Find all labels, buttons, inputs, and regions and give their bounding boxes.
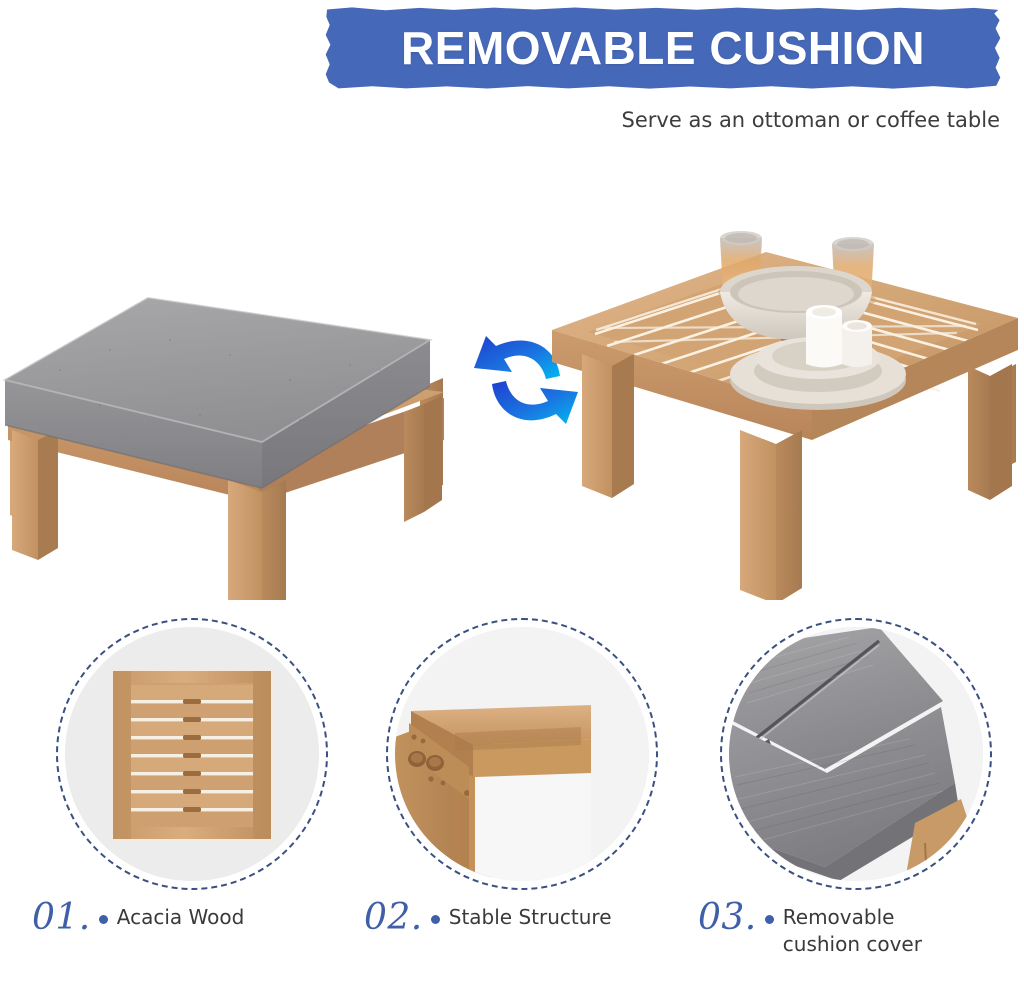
feature-label-3-line2: cushion cover <box>783 932 922 956</box>
feature-caption-2: 02. Stable Structure <box>352 898 692 938</box>
feature-label-2: Stable Structure <box>449 898 612 931</box>
header: REMOVABLE CUSHION Serve as an ottoman or… <box>0 0 1024 150</box>
bullet-dot-icon <box>99 915 108 924</box>
feature-item-1[interactable]: 01. Acacia Wood <box>22 610 362 983</box>
features-section: 01. Acacia Wood <box>0 610 1024 983</box>
feature-caption-1: 01. Acacia Wood <box>22 898 362 938</box>
feature-item-3[interactable]: 03. Removable cushion cover <box>686 610 1024 983</box>
subtitle: Serve as an ottoman or coffee table <box>622 108 1000 132</box>
feature-number-2: 02. <box>364 898 423 938</box>
feature-caption-3: 03. Removable cushion cover <box>686 898 1024 958</box>
coffee-table-illustration <box>552 231 1018 600</box>
feature-circle-3 <box>720 618 992 890</box>
bullet-dot-icon <box>431 915 440 924</box>
hero-section <box>0 140 1024 600</box>
feature-circle-border-2 <box>386 618 658 890</box>
feature-number-3: 03. <box>698 898 757 938</box>
title-banner: REMOVABLE CUSHION <box>325 7 1001 89</box>
feature-number-1: 01. <box>32 898 91 938</box>
feature-circle-border-3 <box>720 618 992 890</box>
feature-circle-border-1 <box>56 618 328 890</box>
feature-circle-1 <box>56 618 328 890</box>
feature-label-3-line1: Removable <box>783 905 895 929</box>
feature-label-1: Acacia Wood <box>117 898 245 931</box>
feature-item-2[interactable]: 02. Stable Structure <box>352 610 692 983</box>
feature-label-3: Removable cushion cover <box>783 898 922 958</box>
feature-circle-2 <box>386 618 658 890</box>
page-title: REMOVABLE CUSHION <box>401 21 925 75</box>
ottoman-illustration <box>5 298 444 600</box>
bullet-dot-icon <box>765 915 774 924</box>
hero-illustration <box>0 140 1024 600</box>
